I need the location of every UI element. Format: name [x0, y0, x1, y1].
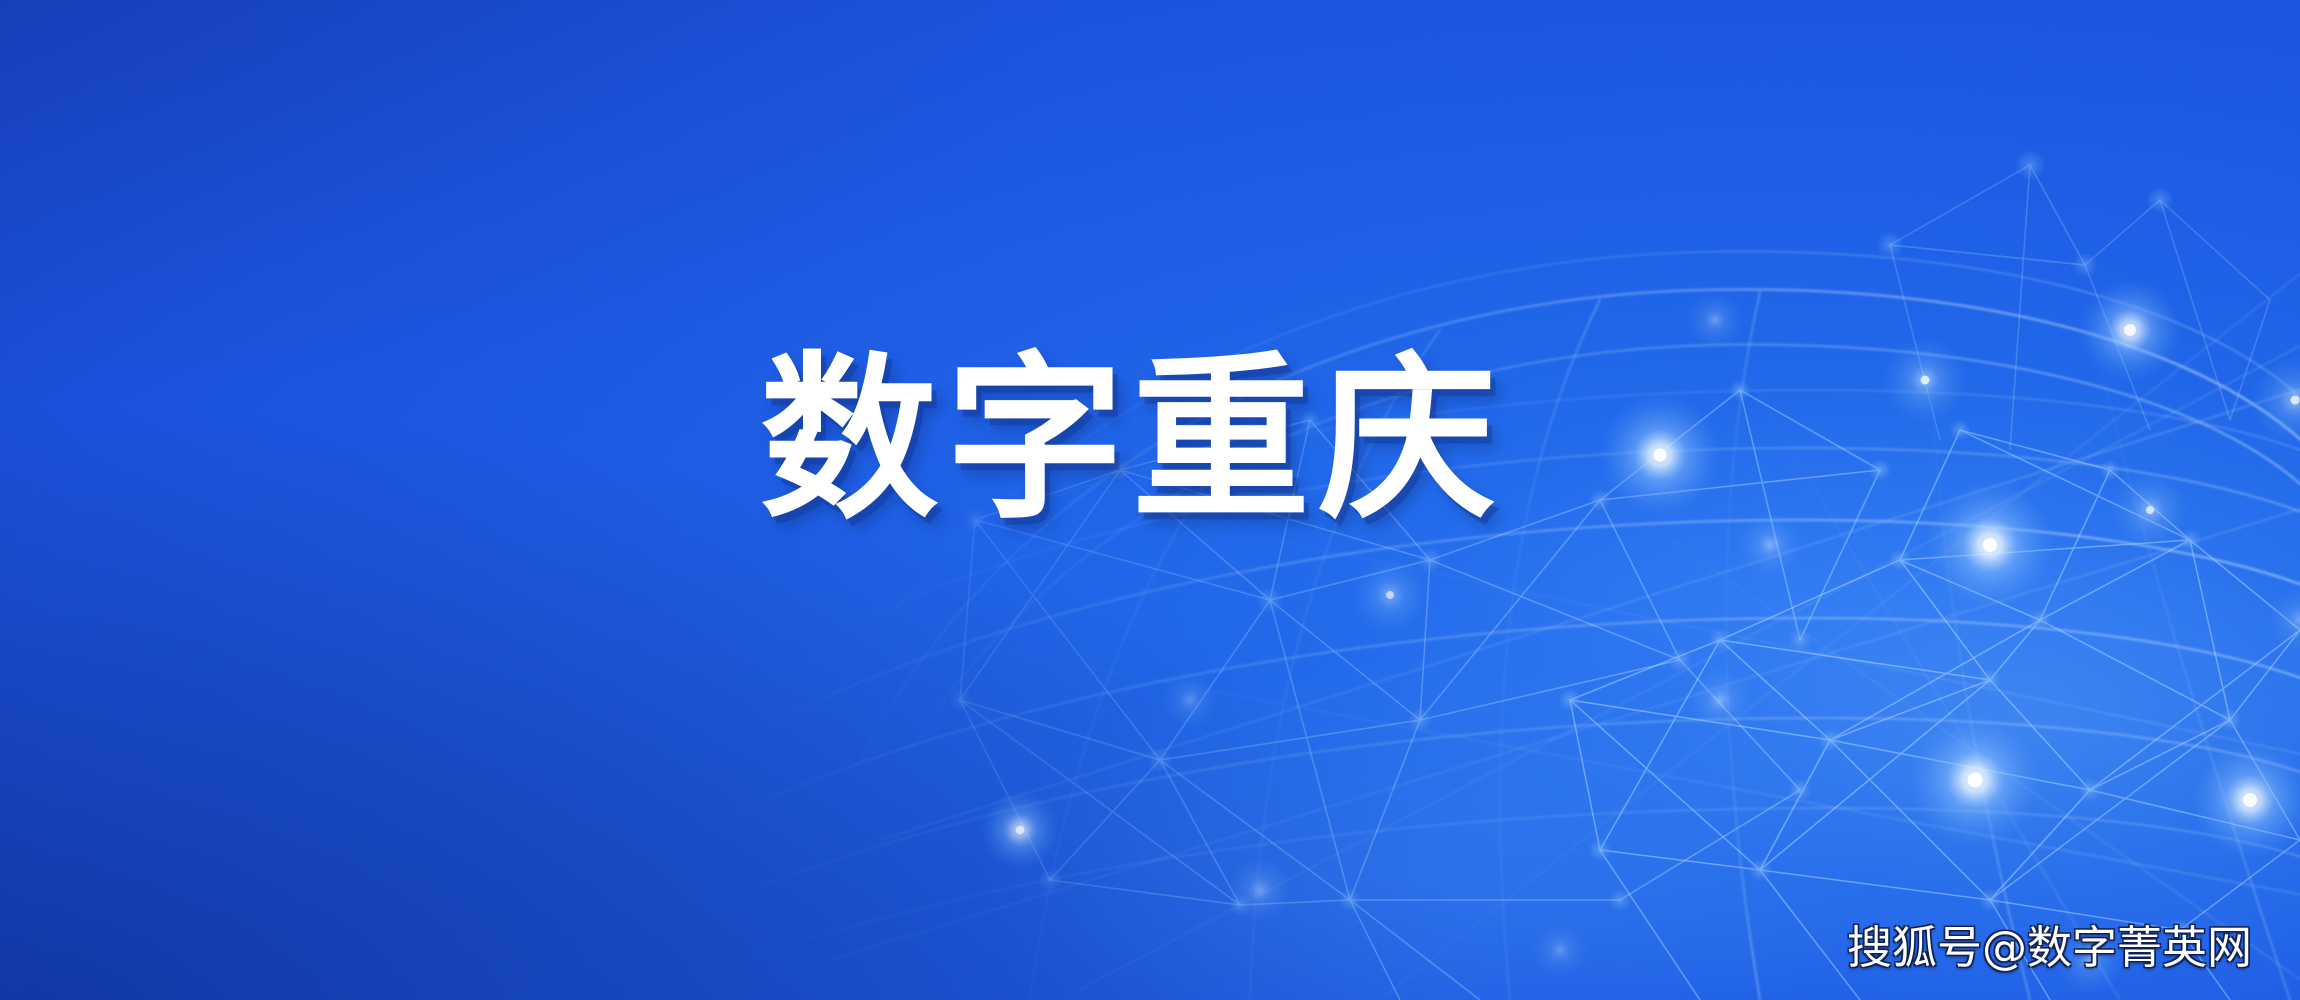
banner-image: 数字重庆 搜狐号@数字菁英网 — [0, 0, 2300, 1000]
watermark-label: 搜狐号@数字菁英网 — [1847, 925, 2252, 970]
title-text: 数字重庆 — [760, 351, 1504, 529]
banner-title: 数字重庆 — [760, 340, 1580, 540]
